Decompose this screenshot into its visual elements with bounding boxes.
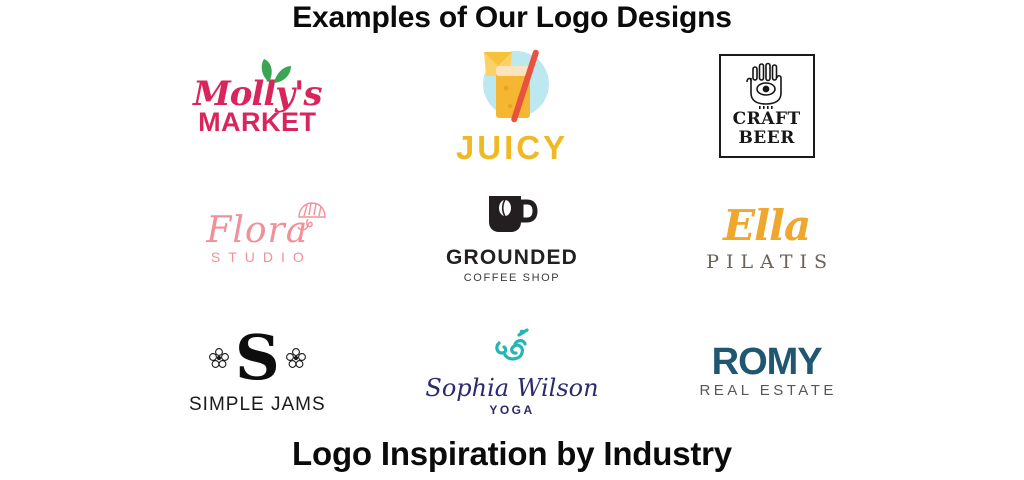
simple-jams-wordmark: SIMPLE JAMS [189, 395, 326, 414]
simple-jams-monogram: S [235, 327, 280, 389]
logo-grid: Molly's MARKET JUICY [0, 34, 1024, 436]
flower-ornament-icon [208, 347, 230, 369]
logo-card-flora-studio[interactable]: Flora STUDIO [130, 172, 385, 304]
grounded-logo: GROUNDED COFFEE SHOP [446, 192, 578, 284]
logo-card-romy-real-estate[interactable]: ROMY REAL ESTATE [639, 304, 894, 436]
logo-card-juicy[interactable]: JUICY [385, 40, 640, 172]
juice-glass-icon [466, 46, 558, 126]
logo-showcase-page: Examples of Our Logo Designs Molly's MAR… [0, 0, 1024, 480]
craft-beer-line1: CRAFT [733, 110, 801, 129]
two-leaves-icon [255, 57, 295, 83]
simple-jams-monogram-row: S [189, 327, 326, 389]
coffee-mug-icon [485, 192, 539, 236]
logo-card-sophia-wilson-yoga[interactable]: Sophia Wilson YOGA [385, 304, 640, 436]
simple-jams-logo: S SIMPLE JAMS [189, 327, 326, 414]
logo-card-mollys-market[interactable]: Molly's MARKET [130, 40, 385, 172]
craft-beer-line2: BEER [738, 129, 794, 148]
real-estate-text: REAL ESTATE [696, 383, 836, 398]
craft-beer-logo: CRAFT BEER [719, 54, 815, 158]
juicy-wordmark: JUICY [456, 129, 568, 167]
yoga-text: YOGA [425, 404, 598, 416]
juicy-logo: JUICY [456, 46, 568, 167]
sophia-wilson-yoga-logo: Sophia Wilson YOGA [425, 325, 598, 416]
romy-wordmark: ROMY [696, 343, 836, 381]
sophia-wilson-script-text: Sophia Wilson [425, 376, 598, 400]
pilatis-text: PILATIS [699, 253, 834, 272]
logo-card-simple-jams[interactable]: S SIMPLE JAMS [130, 304, 385, 436]
page-title-bottom: Logo Inspiration by Industry [0, 436, 1024, 480]
flora-studio-text: STUDIO [203, 250, 312, 264]
flower-ornament-icon [285, 347, 307, 369]
page-title-top: Examples of Our Logo Designs [0, 0, 1024, 34]
mollys-market-logo: Molly's MARKET [193, 77, 321, 136]
flora-studio-logo: Flora STUDIO [203, 213, 312, 264]
grounded-subtitle: COFFEE SHOP [446, 273, 578, 284]
logo-card-ella-pilatis[interactable]: Ella PILATIS [639, 172, 894, 304]
grounded-wordmark: GROUNDED [446, 247, 578, 268]
ella-script-text: Ella [699, 205, 834, 247]
om-symbol-icon [489, 325, 535, 371]
logo-card-grounded[interactable]: GROUNDED COFFEE SHOP [385, 172, 640, 304]
flower-shell-icon [294, 201, 328, 235]
hand-with-eye-icon [744, 62, 790, 110]
romy-real-estate-logo: ROMY REAL ESTATE [696, 343, 836, 398]
ella-pilatis-logo: Ella PILATIS [699, 205, 834, 272]
logo-card-craft-beer[interactable]: CRAFT BEER [639, 40, 894, 172]
mollys-market-text: MARKET [193, 109, 321, 136]
